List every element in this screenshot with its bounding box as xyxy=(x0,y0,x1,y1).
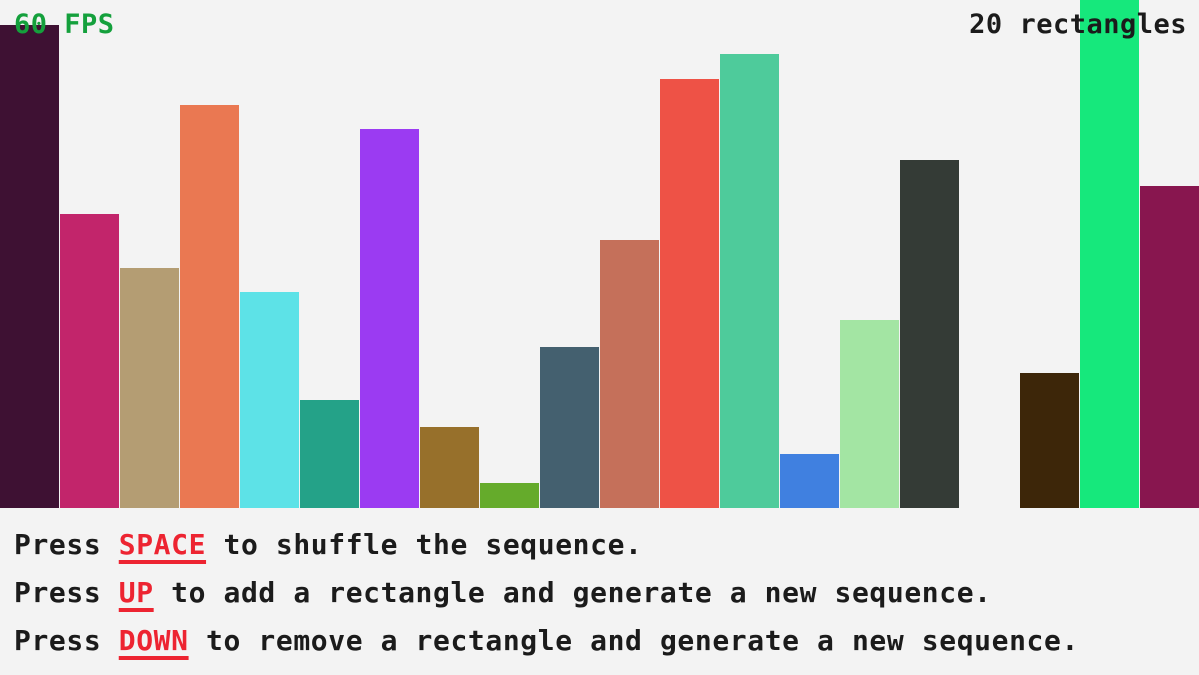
fps-counter: 60 FPS xyxy=(14,10,115,40)
bar-rectangle xyxy=(60,214,119,508)
rectangle-count-label: 20 rectangles xyxy=(969,10,1187,40)
bar-rectangle xyxy=(600,240,659,508)
bar-rectangle xyxy=(780,454,839,508)
instruction-line: Press SPACE to shuffle the sequence. xyxy=(14,521,1199,569)
instruction-prefix: Press xyxy=(14,624,119,657)
bar-rectangle xyxy=(660,79,719,508)
instruction-suffix: to shuffle the sequence. xyxy=(206,528,642,561)
instruction-line: Press DOWN to remove a rectangle and gen… xyxy=(14,617,1199,665)
bar-rectangle xyxy=(720,54,779,508)
app-root: 60 FPS 20 rectangles Press SPACE to shuf… xyxy=(0,0,1199,675)
bar-rectangle xyxy=(1080,0,1139,508)
bar-rectangle xyxy=(180,105,239,508)
instruction-prefix: Press xyxy=(14,576,119,609)
bar-rectangle xyxy=(300,400,359,508)
instructions-panel: Press SPACE to shuffle the sequence.Pres… xyxy=(0,509,1199,675)
bar-rectangle xyxy=(840,320,899,508)
bar-rectangle xyxy=(0,25,59,508)
keyboard-key-space[interactable]: SPACE xyxy=(119,528,206,561)
instruction-suffix: to remove a rectangle and generate a new… xyxy=(189,624,1079,657)
bar-rectangle xyxy=(480,483,539,508)
rectangle-chart[interactable] xyxy=(0,0,1199,509)
instruction-line: Press UP to add a rectangle and generate… xyxy=(14,569,1199,617)
keyboard-key-up[interactable]: UP xyxy=(119,576,154,609)
bar-rectangle xyxy=(420,427,479,508)
bar-rectangle xyxy=(240,292,299,508)
bar-rectangle xyxy=(1140,186,1199,508)
bar-rectangle xyxy=(1020,373,1079,508)
bar-rectangle xyxy=(540,347,599,508)
keyboard-key-down[interactable]: DOWN xyxy=(119,624,189,657)
instruction-prefix: Press xyxy=(14,528,119,561)
bar-rectangle xyxy=(120,268,179,508)
instruction-suffix: to add a rectangle and generate a new se… xyxy=(154,576,992,609)
bar-rectangle xyxy=(360,129,419,508)
bar-rectangle xyxy=(900,160,959,508)
